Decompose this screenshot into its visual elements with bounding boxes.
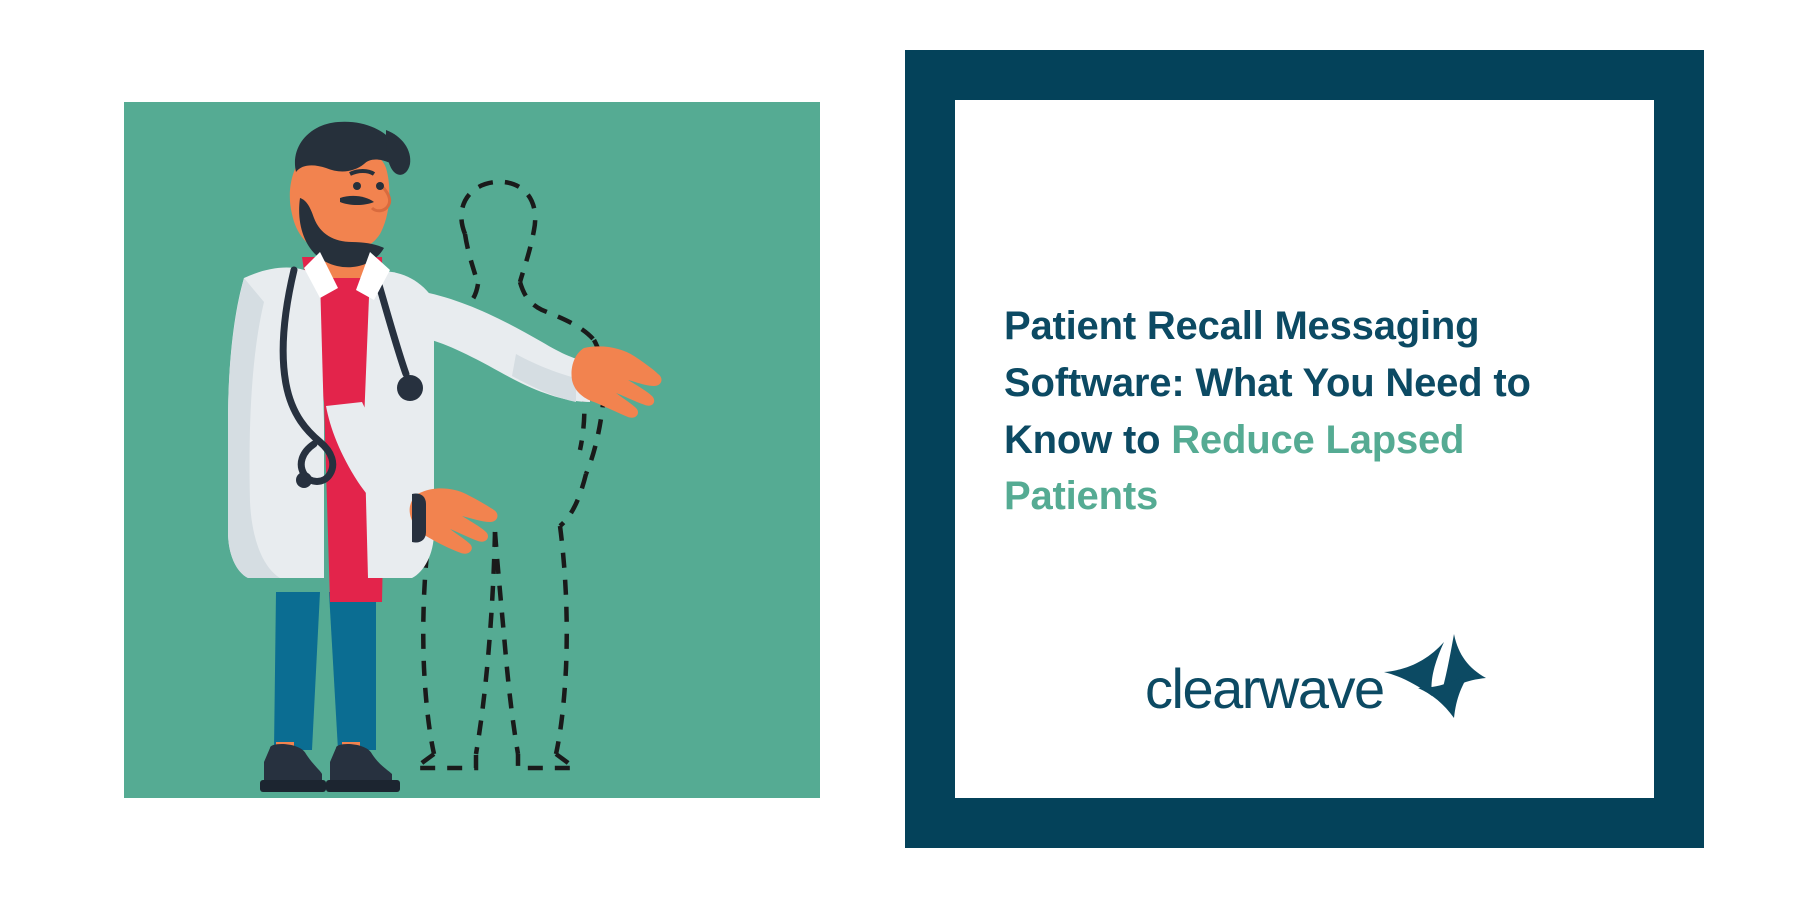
doctor-shoe-back bbox=[260, 744, 326, 792]
doctor-hair-quiff bbox=[386, 130, 410, 175]
handheld-instrument bbox=[412, 493, 426, 542]
doctor-leg-front bbox=[329, 592, 376, 750]
doctor-eye-right bbox=[376, 182, 384, 190]
doctor-illustration bbox=[124, 102, 820, 798]
doctor-hair bbox=[295, 122, 400, 172]
stethoscope-earpiece bbox=[296, 472, 312, 488]
doctor-shoe-front bbox=[326, 744, 400, 792]
headline-card: Patient Recall Messaging Software: What … bbox=[955, 100, 1654, 798]
page-title: Patient Recall Messaging Software: What … bbox=[1004, 298, 1614, 525]
doctor-leg-back bbox=[274, 592, 320, 750]
doctor-eye-left bbox=[353, 182, 361, 190]
illustration-panel bbox=[124, 102, 820, 798]
doctor-hand-extended bbox=[572, 346, 662, 417]
doctor-figure bbox=[228, 122, 661, 792]
clearwave-logo: clearwave bbox=[1145, 658, 1494, 720]
headline-card-frame: Patient Recall Messaging Software: What … bbox=[905, 50, 1704, 848]
stethoscope-chestpiece bbox=[397, 375, 423, 401]
clearwave-wordmark: clearwave bbox=[1145, 661, 1384, 717]
page-root: Patient Recall Messaging Software: What … bbox=[0, 0, 1801, 901]
clearwave-swoosh-star-mark bbox=[1382, 632, 1494, 720]
